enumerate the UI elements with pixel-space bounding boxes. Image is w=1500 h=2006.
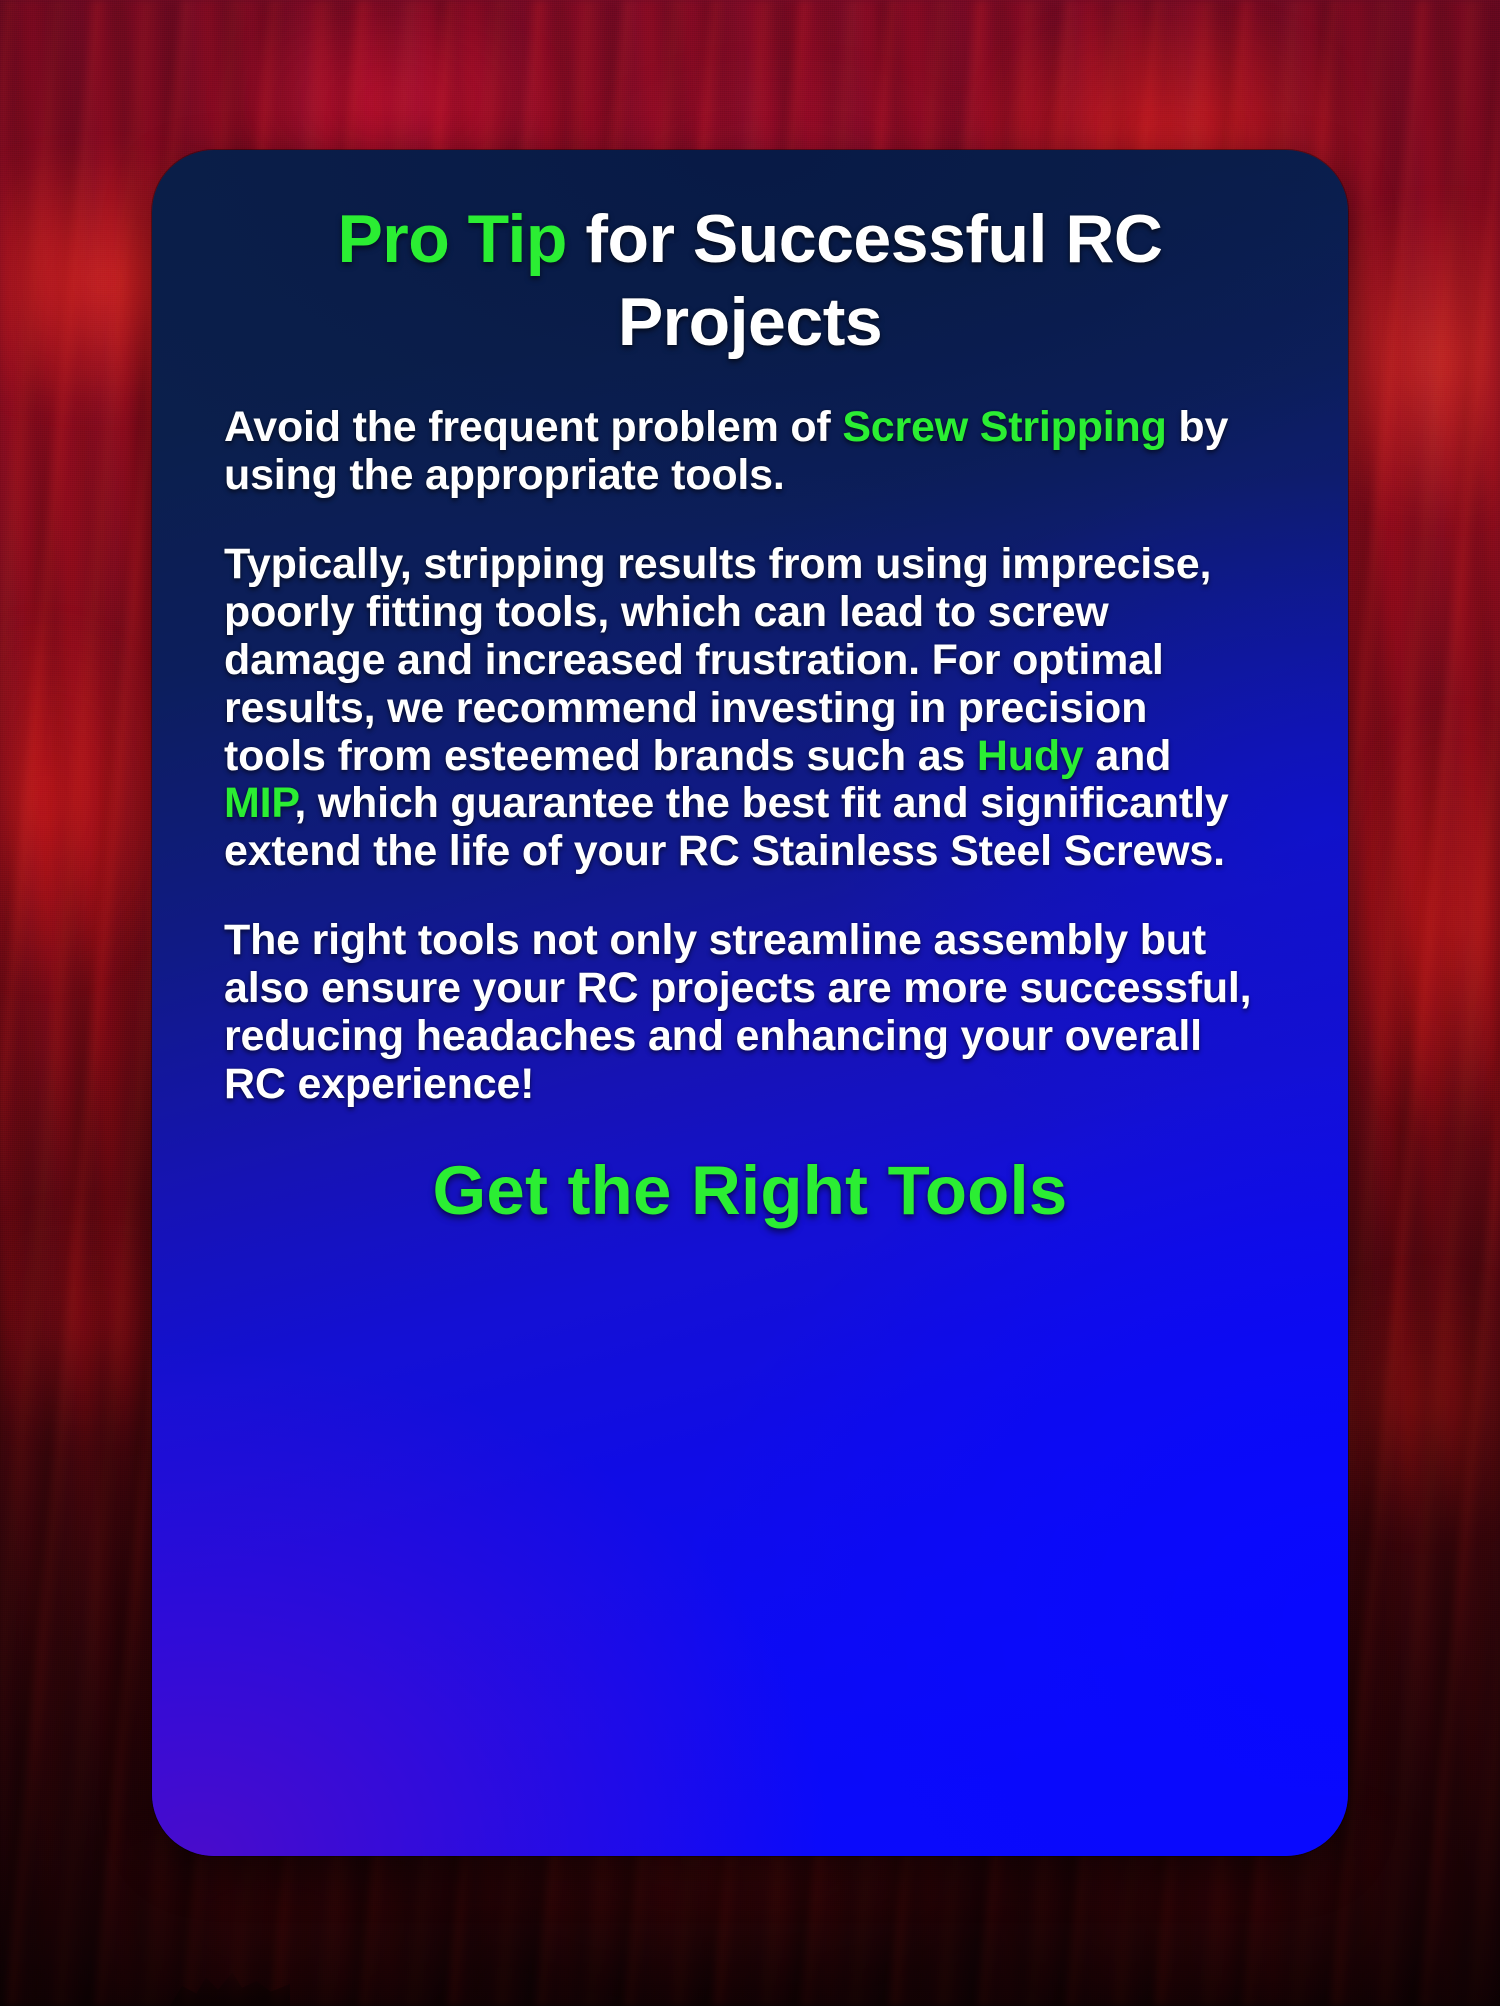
paragraph-1-accent-1: Screw Stripping	[842, 403, 1166, 451]
paragraph-2-text-4: , which guarantee the best fit and signi…	[224, 779, 1228, 875]
paragraph-2-accent-3: MIP	[224, 779, 294, 827]
page-title-rest: for Successful RC Projects	[567, 201, 1163, 360]
cta-text[interactable]: Get the Right Tools	[214, 1153, 1286, 1229]
page-title-accent: Pro Tip	[337, 201, 567, 277]
paragraph-1-text-0: Avoid the frequent problem of	[224, 403, 842, 451]
paragraph-3: The right tools not only streamline asse…	[224, 917, 1252, 1109]
tip-card: Pro Tip for Successful RC Projects Avoid…	[152, 150, 1348, 1856]
page-title: Pro Tip for Successful RC Projects	[214, 198, 1286, 364]
paragraph-1: Avoid the frequent problem of Screw Stri…	[224, 404, 1252, 500]
paragraph-2-accent-1: Hudy	[977, 732, 1084, 780]
paragraph-2: Typically, stripping results from using …	[224, 541, 1252, 877]
paragraph-2-text-2: and	[1084, 732, 1172, 780]
card-content: Pro Tip for Successful RC Projects Avoid…	[152, 150, 1348, 1856]
paragraph-3-text-0: The right tools not only streamline asse…	[224, 916, 1251, 1108]
body-copy: Avoid the frequent problem of Screw Stri…	[214, 404, 1286, 1109]
poster-canvas: Pro Tip for Successful RC Projects Avoid…	[0, 0, 1500, 2006]
